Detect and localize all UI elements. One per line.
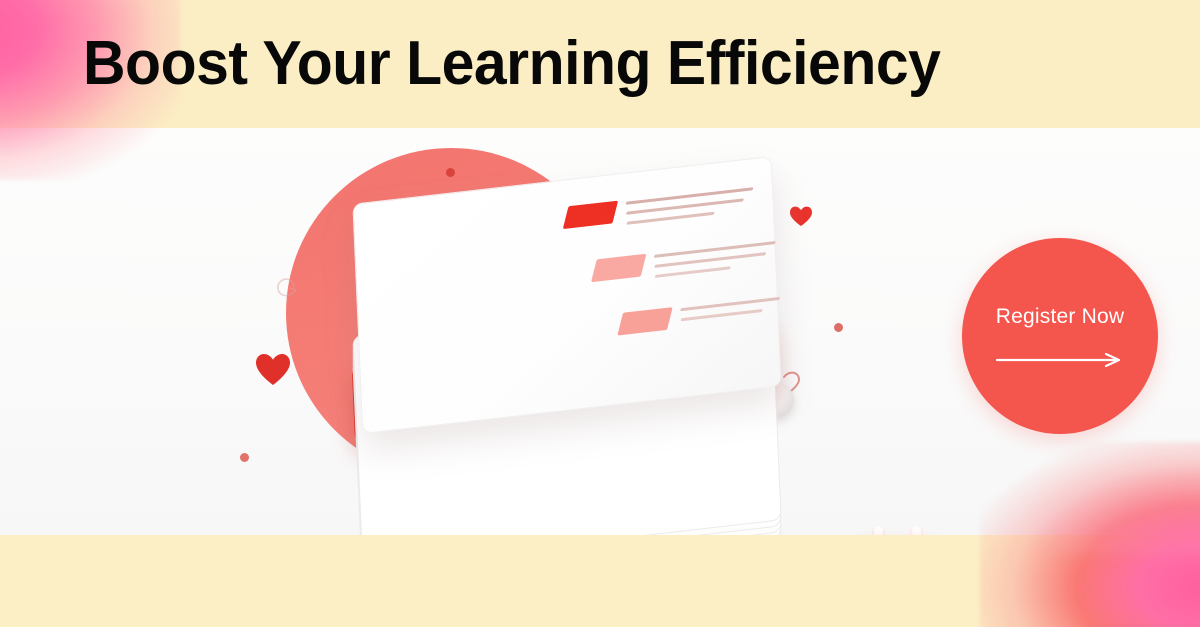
calendar-ring <box>910 526 923 535</box>
card-text-line <box>626 212 714 225</box>
dot-icon <box>240 453 249 462</box>
promo-banner: Boost Your Learning Efficiency <box>0 0 1200 627</box>
card-sheet-front <box>352 156 781 434</box>
arrow-right-icon <box>995 352 1125 368</box>
calendar-icon: 20 <box>857 526 939 535</box>
card-row-lines <box>626 185 754 225</box>
card-text-line <box>680 297 780 311</box>
dot-icon <box>834 323 843 332</box>
register-now-button[interactable]: Register Now <box>962 238 1158 434</box>
card-row <box>565 185 754 231</box>
flashcard-stack-icon <box>330 168 810 508</box>
heart-icon <box>255 352 291 386</box>
footer: Flashcard Creation Workshop Jan 20, 2025 <box>0 535 1200 627</box>
swirl-arrow-icon <box>272 276 302 302</box>
card-row-lines <box>680 295 780 321</box>
register-now-label: Register Now <box>996 305 1124 329</box>
card-text-line <box>655 266 731 278</box>
page-title: Boost Your Learning Efficiency <box>83 32 940 96</box>
card-row <box>593 239 776 285</box>
card-row-lines <box>654 239 776 278</box>
card-row-swatch <box>591 254 646 282</box>
card-row-swatch <box>563 201 618 229</box>
calendar-ring <box>872 526 885 535</box>
card-text-line <box>681 309 763 321</box>
card-row-swatch <box>617 307 672 335</box>
card-row <box>620 295 781 335</box>
card-content-rows <box>353 157 780 433</box>
